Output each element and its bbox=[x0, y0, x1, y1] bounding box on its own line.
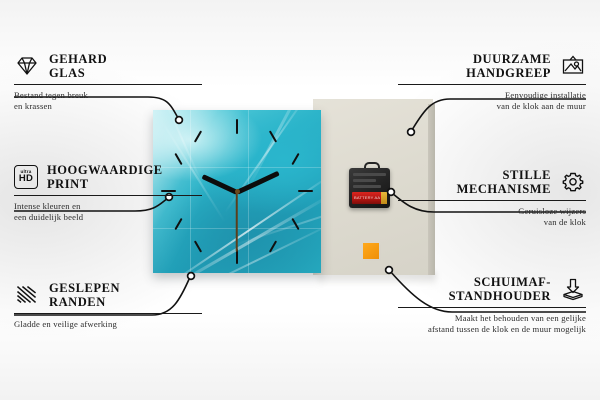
feature-desc-line1: Intense kleuren en bbox=[14, 201, 184, 212]
divider bbox=[398, 307, 586, 308]
feature-desc-line1: Maakt het behouden van een gelijke bbox=[398, 313, 586, 324]
feature-gehard-glas[interactable]: GEHARD GLAS Bestand tegen breuk en krass… bbox=[14, 52, 202, 112]
product-infographic: BATTERY AA bbox=[0, 0, 600, 400]
connector-marker-gehard-glas bbox=[176, 117, 183, 124]
feature-desc-line1: Geruisloze wijzers bbox=[398, 206, 586, 217]
feature-title-line1: GEHARD bbox=[49, 52, 107, 66]
feature-desc-line1: Gladde en veilige afwerking bbox=[14, 319, 184, 330]
divider bbox=[398, 200, 586, 201]
feature-desc-line1: Eenvoudige installatie bbox=[398, 90, 586, 101]
feature-title-line2: GLAS bbox=[49, 66, 107, 80]
feature-title-line1: SCHUIMAF- bbox=[449, 275, 551, 289]
diamond-icon bbox=[14, 54, 40, 78]
feature-desc-line2: afstand tussen de klok en de muur mogeli… bbox=[398, 324, 586, 335]
connector-marker-geslepen-randen bbox=[188, 273, 195, 280]
feature-title-line1: DUURZAME bbox=[466, 52, 551, 66]
feature-hoogwaardige-print[interactable]: ultra HD HOOGWAARDIGE PRINT Intense kleu… bbox=[14, 163, 202, 223]
feature-geslepen-randen[interactable]: GESLEPEN RANDEN Gladde en veilige afwerk… bbox=[14, 281, 202, 330]
feature-stille-mechanisme[interactable]: STILLE MECHANISME Geruisloze wijzers van… bbox=[398, 168, 586, 228]
feature-schuimafstandhouder[interactable]: SCHUIMAF- STANDHOUDER Maakt het behouden… bbox=[398, 275, 586, 335]
feature-title-line2: PRINT bbox=[47, 177, 163, 191]
divider bbox=[14, 84, 202, 85]
diagonal-lines-icon bbox=[14, 283, 40, 307]
feature-duurzame-handgreep[interactable]: DUURZAME HANDGREEP Eenvoudige installati… bbox=[398, 52, 586, 112]
ultra-hd-icon: ultra HD bbox=[14, 165, 38, 189]
ultra-hd-icon-large-text: HD bbox=[19, 174, 33, 184]
picture-frame-icon bbox=[560, 54, 586, 78]
connector-marker-duurzame-handgreep bbox=[408, 129, 415, 136]
feature-title-line2: MECHANISME bbox=[457, 182, 551, 196]
feature-desc-line2: een duidelijk beeld bbox=[14, 212, 184, 223]
feature-desc-line2: en krassen bbox=[14, 101, 184, 112]
divider bbox=[14, 195, 202, 196]
press-pad-icon bbox=[560, 277, 586, 301]
feature-title-line1: GESLEPEN bbox=[49, 281, 120, 295]
divider bbox=[14, 313, 202, 314]
feature-title-line2: RANDEN bbox=[49, 295, 120, 309]
feature-desc-line2: van de klok aan de muur bbox=[398, 101, 586, 112]
feature-desc-line1: Bestand tegen breuk bbox=[14, 90, 184, 101]
feature-title-line2: STANDHOUDER bbox=[449, 289, 551, 303]
feature-title-line1: HOOGWAARDIGE bbox=[47, 163, 163, 177]
connector-marker-schuimafstandhouder bbox=[386, 267, 393, 274]
gear-icon bbox=[560, 170, 586, 194]
feature-title-line1: STILLE bbox=[457, 168, 551, 182]
connector-marker-stille-mechanisme bbox=[388, 189, 395, 196]
feature-desc-line2: van de klok bbox=[398, 217, 586, 228]
feature-title-line2: HANDGREEP bbox=[466, 66, 551, 80]
divider bbox=[398, 84, 586, 85]
